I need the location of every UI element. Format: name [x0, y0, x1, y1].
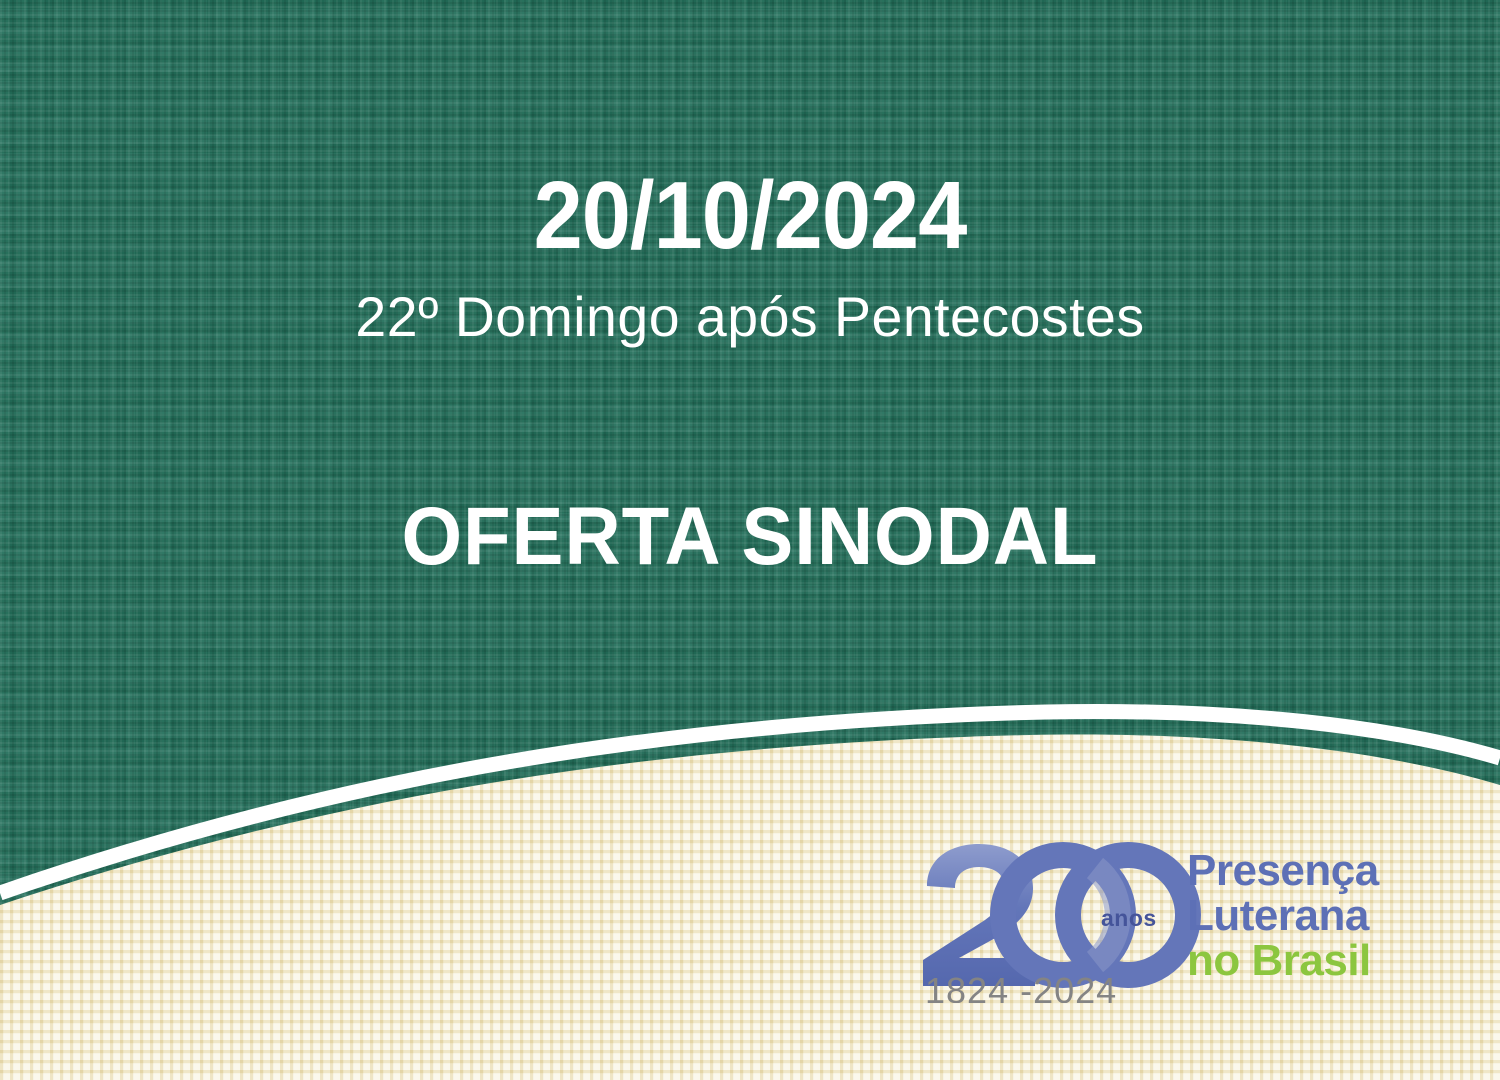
logo-wordmark-line2: Luterana — [1187, 891, 1370, 940]
logo-artwork: anos 1824 -2024 Presença Luterana no Bra… — [915, 838, 1430, 1003]
logo-wordmark-line1: Presença — [1187, 846, 1380, 895]
poster-canvas: 20/10/2024 22º Domingo após Pentecostes … — [0, 0, 1500, 1080]
logo-presenca-luterana: anos 1824 -2024 Presença Luterana no Bra… — [915, 838, 1430, 1003]
logo-anos-label: anos — [1101, 905, 1157, 931]
logo-wordmark-line3: no Brasil — [1187, 936, 1371, 985]
logo-years-range: 1824 -2024 — [925, 970, 1117, 1003]
